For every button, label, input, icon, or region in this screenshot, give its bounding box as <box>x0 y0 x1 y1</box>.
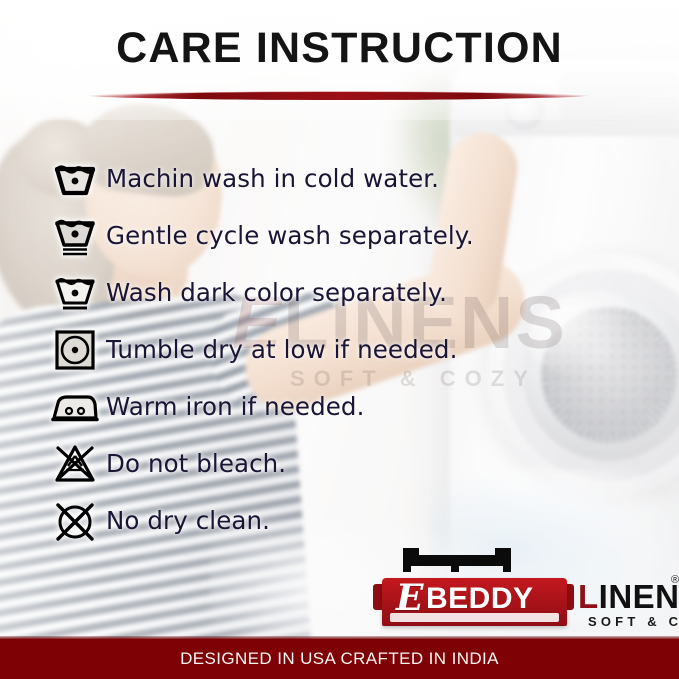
page-title: CARE INSTRUCTION <box>0 24 679 73</box>
logo-tagline: SOFT & COZY <box>588 614 679 629</box>
iron-warm-icon <box>44 389 106 425</box>
instruction-text: Wash dark color separately. <box>106 278 447 307</box>
instruction-text: No dry clean. <box>106 506 270 535</box>
tumble-dry-low-icon <box>44 328 106 372</box>
instruction-text: Gentle cycle wash separately. <box>106 221 474 250</box>
list-item: No dry clean. <box>44 492 644 549</box>
logo-brand-primary: BEDDY <box>426 584 534 614</box>
bed-icon <box>401 546 513 580</box>
registered-trademark-icon: ® <box>671 574 679 586</box>
wash-tub-cold-icon <box>44 159 106 199</box>
list-item: Do not bleach. <box>44 435 644 492</box>
logo-brand-secondary: LINENS <box>578 580 679 613</box>
list-item: Warm iron if needed. <box>44 378 644 435</box>
wash-tub-permanent-icon <box>44 272 106 314</box>
logo-brand-secondary-rest: INENS <box>599 578 679 615</box>
logo-brand-secondary-first: L <box>578 578 599 615</box>
wash-tub-gentle-icon <box>44 214 106 258</box>
instruction-text: Do not bleach. <box>106 449 286 478</box>
list-item: Gentle cycle wash separately. <box>44 207 644 264</box>
instruction-text: Machin wash in cold water. <box>106 164 439 193</box>
care-instruction-card: ELINENS SOFT & COZY CARE INSTRUCTION Mac… <box>0 0 679 679</box>
instruction-list: Machin wash in cold water. Gentle cycle … <box>44 150 644 549</box>
brand-logo: E BEDDY LINENS ® SOFT & COZY <box>382 546 672 636</box>
instruction-text: Tumble dry at low if needed. <box>106 335 457 364</box>
list-item: Machin wash in cold water. <box>44 150 644 207</box>
title-swoosh <box>120 92 560 100</box>
footer-text: DESIGNED IN USA CRAFTED IN INDIA <box>180 649 499 669</box>
logo-script-initial: E <box>396 580 423 616</box>
list-item: Wash dark color separately. <box>44 264 644 321</box>
no-dry-clean-icon <box>44 499 106 543</box>
do-not-bleach-icon <box>44 442 106 486</box>
footer-banner: DESIGNED IN USA CRAFTED IN INDIA <box>0 639 679 679</box>
list-item: Tumble dry at low if needed. <box>44 321 644 378</box>
instruction-text: Warm iron if needed. <box>106 392 364 421</box>
